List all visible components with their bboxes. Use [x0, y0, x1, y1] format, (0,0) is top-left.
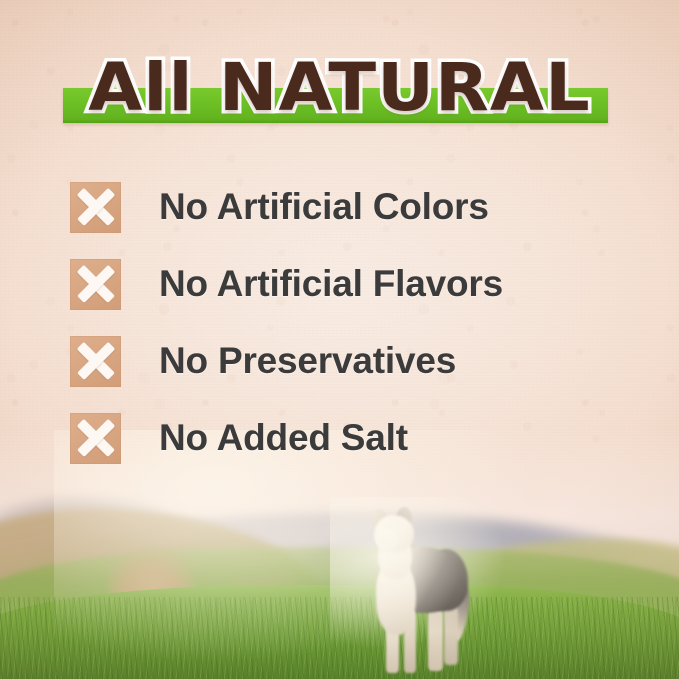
- product-feature-poster: All NATURAL No Artificial Colors No Arti…: [0, 0, 679, 679]
- x-mark-icon: [70, 182, 121, 233]
- feature-row: No Artificial Flavors: [70, 255, 639, 313]
- x-mark-icon: [70, 336, 121, 387]
- feature-row: No Preservatives: [70, 332, 639, 390]
- feature-list: No Artificial Colors No Artificial Flavo…: [70, 178, 639, 486]
- feature-row: No Artificial Colors: [70, 178, 639, 236]
- x-mark-icon: [70, 413, 121, 464]
- feature-row: No Added Salt: [70, 409, 639, 467]
- feature-label: No Artificial Flavors: [159, 264, 503, 304]
- feature-label: No Preservatives: [159, 341, 456, 381]
- x-mark-icon: [70, 259, 121, 310]
- feature-label: No Artificial Colors: [159, 187, 489, 227]
- feature-label: No Added Salt: [159, 418, 408, 458]
- page-title: All NATURAL: [0, 50, 679, 126]
